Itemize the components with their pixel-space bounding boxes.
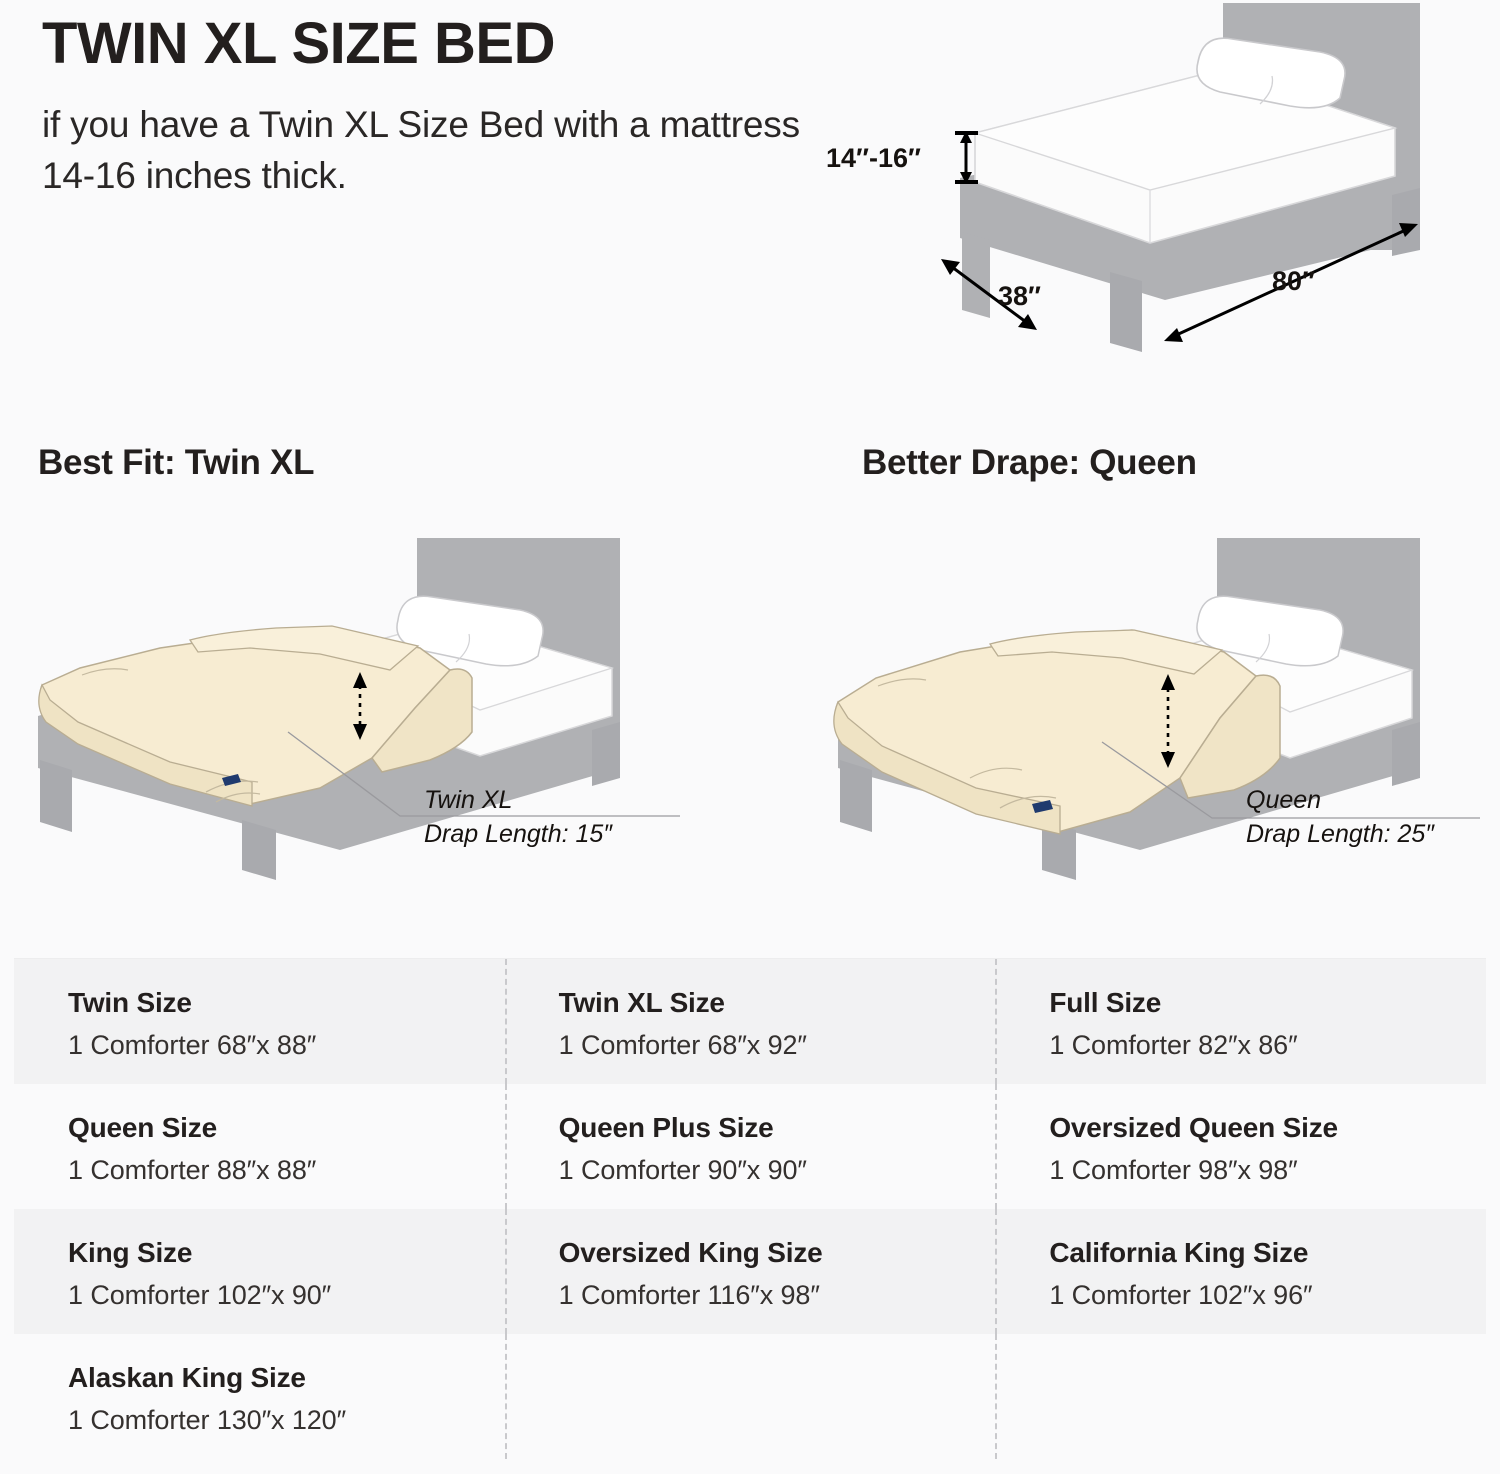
size-cell-title: Oversized King Size: [559, 1236, 996, 1270]
bed-illustration-twin-xl: [20, 520, 740, 880]
size-cell-alaskan-king: Alaskan King Size 1 Comforter 130″x 120″: [14, 1334, 505, 1459]
height-dimension-label: 14″-16″: [826, 143, 921, 173]
bed-leg-back-right: [1392, 722, 1420, 786]
size-cell-desc: 1 Comforter 130″x 120″: [68, 1404, 505, 1436]
size-cell-title: Twin XL Size: [559, 986, 996, 1020]
size-cell-twin: Twin Size 1 Comforter 68″x 88″: [14, 959, 505, 1084]
callout-twin-xl-line1: Twin XL: [424, 786, 512, 814]
infographic-page: TWIN XL SIZE BED if you have a Twin XL S…: [0, 0, 1500, 1474]
table-row: Queen Size 1 Comforter 88″x 88″ Queen Pl…: [14, 1084, 1486, 1209]
size-cell-title: Twin Size: [68, 986, 505, 1020]
size-cell-oversized-king: Oversized King Size 1 Comforter 116″x 98…: [505, 1209, 996, 1334]
size-cell-desc: 1 Comforter 98″x 98″: [1049, 1154, 1486, 1186]
size-cell-oversized-queen: Oversized Queen Size 1 Comforter 98″x 98…: [995, 1084, 1486, 1209]
size-cell-empty: [995, 1334, 1486, 1459]
size-cell-desc: 1 Comforter 116″x 98″: [559, 1279, 996, 1311]
size-cell-desc: 1 Comforter 90″x 90″: [559, 1154, 996, 1186]
size-cell-twin-xl: Twin XL Size 1 Comforter 68″x 92″: [505, 959, 996, 1084]
size-cell-title: Alaskan King Size: [68, 1361, 505, 1395]
size-cell-queen-plus: Queen Plus Size 1 Comforter 90″x 90″: [505, 1084, 996, 1209]
size-cell-title: Queen Size: [68, 1111, 505, 1145]
size-cell-title: Queen Plus Size: [559, 1111, 996, 1145]
size-cell-full: Full Size 1 Comforter 82″x 86″: [995, 959, 1486, 1084]
size-cell-desc: 1 Comforter 88″x 88″: [68, 1154, 505, 1186]
callout-twin-xl-line2: Drap Length: 15″: [424, 818, 612, 852]
bed-leg-front-left: [962, 232, 990, 318]
size-cell-desc: 1 Comforter 102″x 90″: [68, 1279, 505, 1311]
size-cell-desc: 1 Comforter 82″x 86″: [1049, 1029, 1486, 1061]
comforter-size-table: Twin Size 1 Comforter 68″x 88″ Twin XL S…: [14, 958, 1486, 1458]
length-dimension-label: 80″: [1272, 266, 1315, 296]
hero-bed-diagram: 14″-16″ 38″ 80″: [820, 0, 1500, 380]
size-cell-desc: 1 Comforter 68″x 88″: [68, 1029, 505, 1061]
callout-queen: Queen Drap Length: 25″: [1246, 784, 1434, 852]
page-subtitle: if you have a Twin XL Size Bed with a ma…: [42, 99, 802, 201]
section-heading-better-drape: Better Drape: Queen: [862, 443, 1197, 483]
size-cell-empty: [505, 1334, 996, 1459]
table-row: King Size 1 Comforter 102″x 90″ Oversize…: [14, 1209, 1486, 1334]
hero-bed-svg: 14″-16″ 38″ 80″: [820, 0, 1500, 380]
bed-leg-back-right: [592, 722, 620, 786]
bed-leg-back-right: [1392, 188, 1420, 256]
size-cell-desc: 1 Comforter 68″x 92″: [559, 1029, 996, 1061]
callout-queen-line1: Queen: [1246, 786, 1321, 814]
callout-twin-xl: Twin XL Drap Length: 15″: [424, 784, 612, 852]
size-cell-king: King Size 1 Comforter 102″x 90″: [14, 1209, 505, 1334]
callout-queen-line2: Drap Length: 25″: [1246, 818, 1434, 852]
size-cell-title: Full Size: [1049, 986, 1486, 1020]
table-row: Twin Size 1 Comforter 68″x 88″ Twin XL S…: [14, 959, 1486, 1084]
bed-leg-front-left: [840, 760, 872, 832]
header-block: TWIN XL SIZE BED if you have a Twin XL S…: [42, 14, 802, 201]
size-cell-california-king: California King Size 1 Comforter 102″x 9…: [995, 1209, 1486, 1334]
size-cell-desc: 1 Comforter 102″x 96″: [1049, 1279, 1486, 1311]
size-cell-queen: Queen Size 1 Comforter 88″x 88″: [14, 1084, 505, 1209]
section-heading-best-fit: Best Fit: Twin XL: [38, 443, 314, 483]
bed-twin-xl-svg: [20, 520, 740, 880]
bed-leg-front-right: [242, 820, 276, 880]
page-title: TWIN XL SIZE BED: [42, 14, 802, 75]
size-cell-title: Oversized Queen Size: [1049, 1111, 1486, 1145]
size-cell-title: King Size: [68, 1236, 505, 1270]
table-row: Alaskan King Size 1 Comforter 130″x 120″: [14, 1334, 1486, 1459]
bed-leg-front-right: [1110, 272, 1142, 352]
size-cell-title: California King Size: [1049, 1236, 1486, 1270]
width-dimension-label: 38″: [998, 281, 1041, 311]
bed-leg-front-left: [40, 760, 72, 832]
